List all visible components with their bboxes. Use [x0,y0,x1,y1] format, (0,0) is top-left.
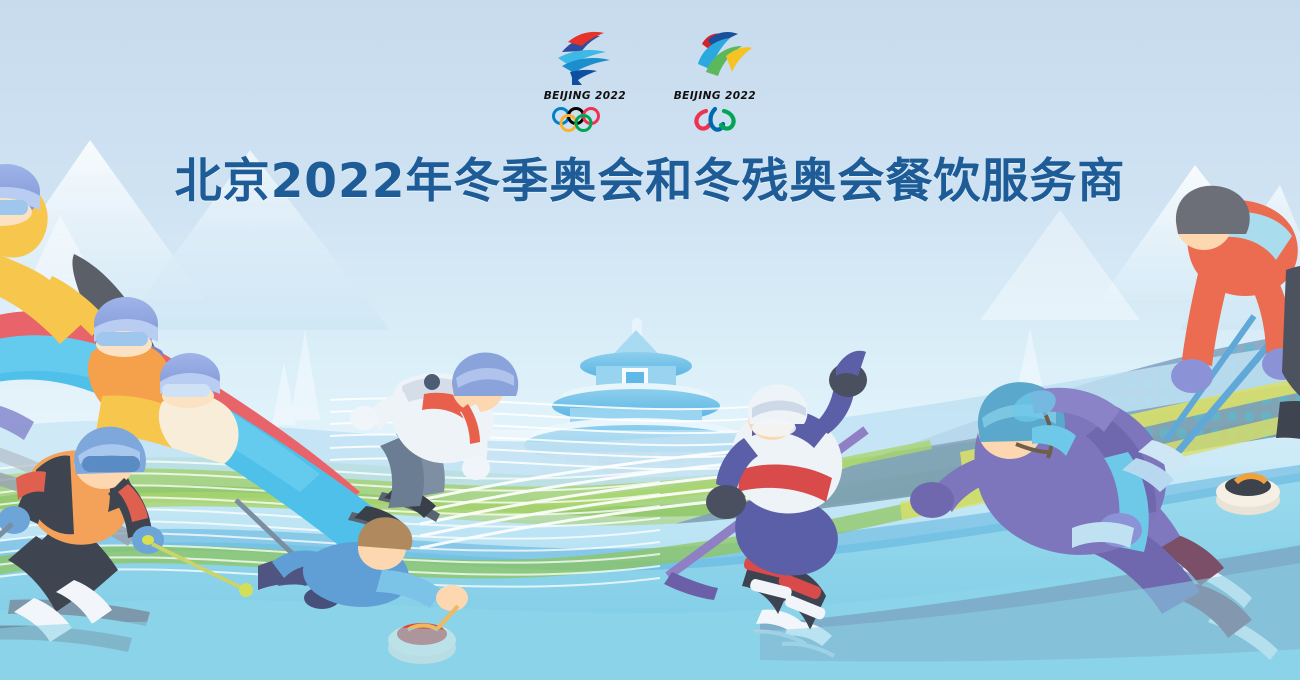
paralympic-wordmark: BEIJING 2022 [674,89,756,102]
olympic-rings-icon [548,105,622,133]
olympic-emblem: BEIJING 2022 [542,28,628,133]
athlete-ice-hockey [664,351,867,656]
olympic-emblem-mark [542,28,628,86]
paralympic-emblem: BEIJING 2022 [672,28,758,133]
paralympic-agitos-icon [678,105,752,133]
olympic-wordmark: BEIJING 2022 [544,89,626,102]
paralympic-emblem-mark [672,28,758,86]
poster-canvas: BEIJING 2022 BEIJING 2022 [0,0,1300,680]
emblem-row: BEIJING 2022 BEIJING 2022 [0,28,1300,133]
athlete-speed-skater-1 [348,352,518,542]
page-title: 北京2022年冬季奥会和冬残奥会餐饮服务商 [0,142,1300,211]
